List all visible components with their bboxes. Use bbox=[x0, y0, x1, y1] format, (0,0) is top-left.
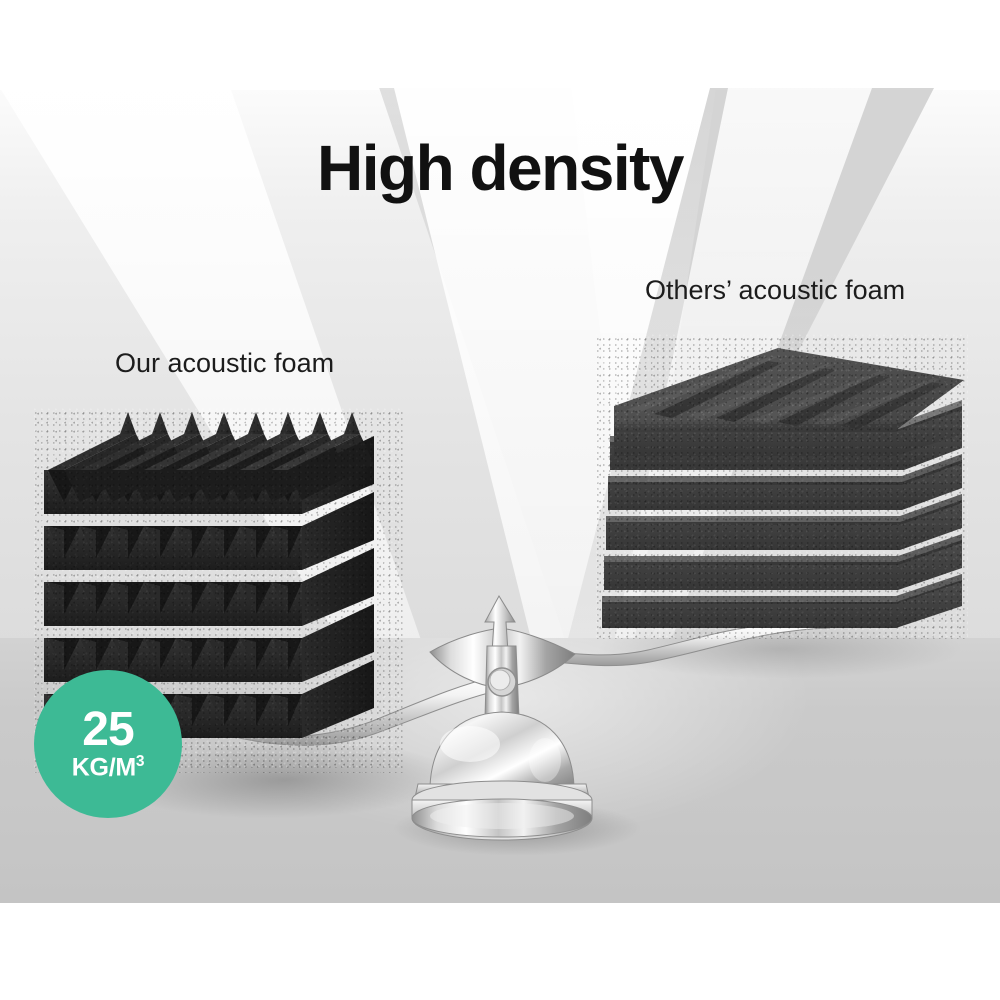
density-badge-value: 25 bbox=[82, 707, 133, 753]
scale-body-svg bbox=[0, 0, 1000, 1000]
product-hero-image: High density Our acoustic foam Others’ a… bbox=[0, 0, 1000, 1000]
density-badge-unit: KG/M3 bbox=[72, 754, 144, 780]
scale-body bbox=[0, 0, 1000, 1000]
density-badge: 25 KG/M3 bbox=[34, 670, 182, 818]
density-badge-unit-text: KG/M bbox=[72, 754, 136, 782]
density-badge-unit-exponent: 3 bbox=[136, 753, 144, 770]
